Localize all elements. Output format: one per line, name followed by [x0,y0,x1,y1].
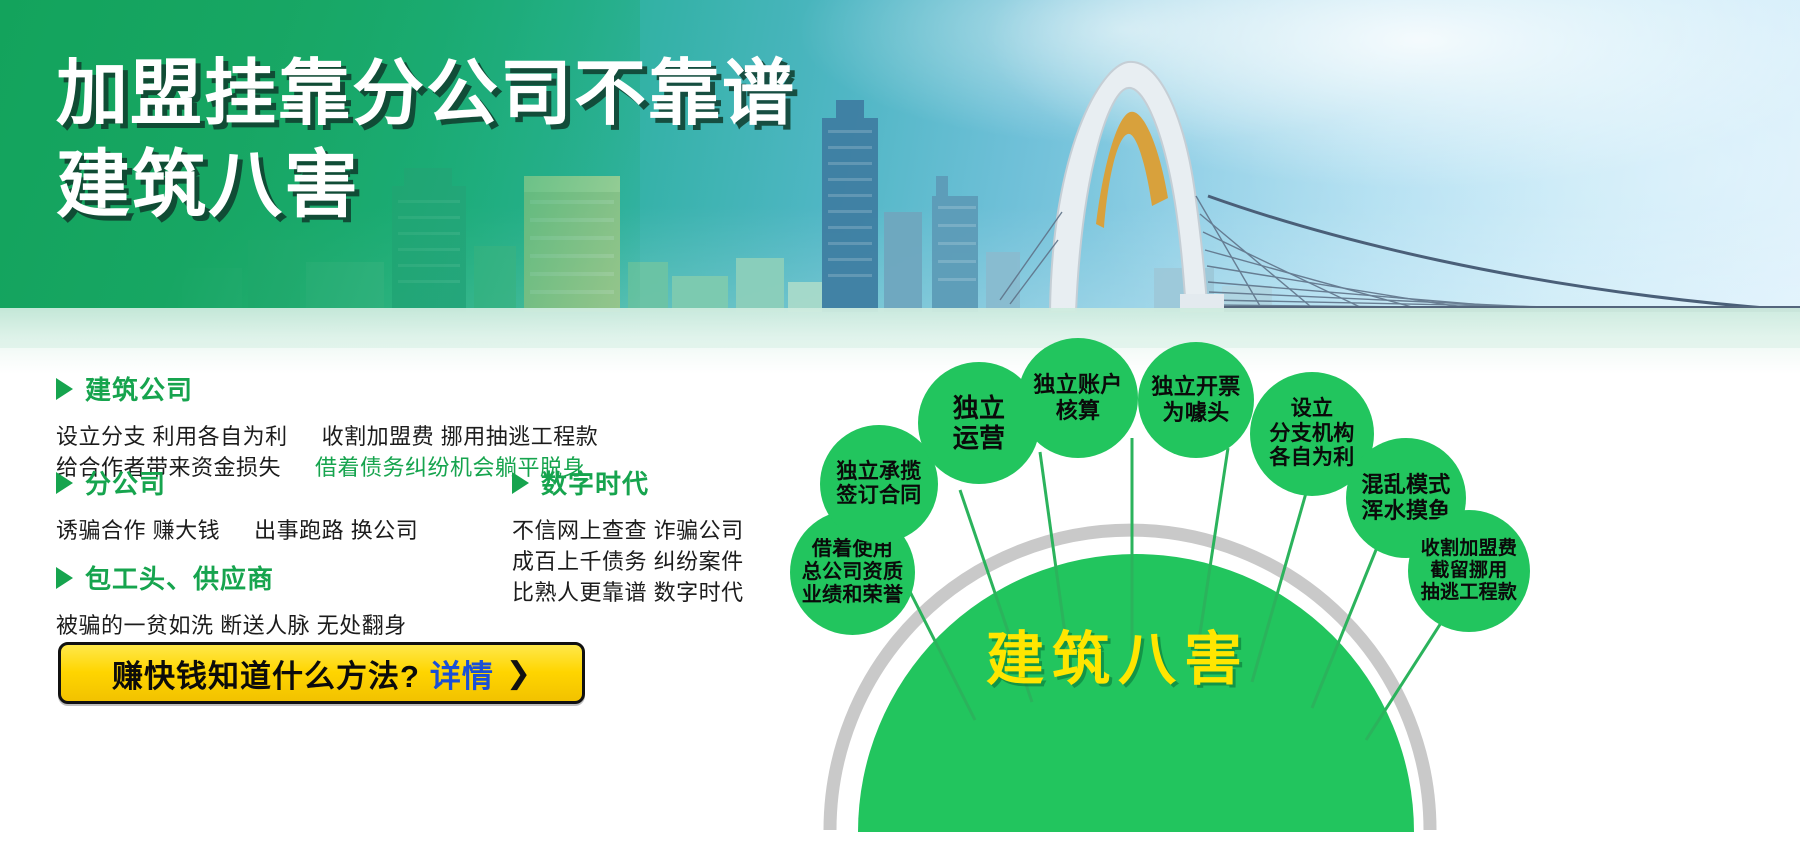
section-title: 分公司 [85,464,166,501]
arch-label: 建筑八害 [986,612,1250,696]
hero-title-block: 加盟挂靠分公司不靠谱 建筑八害 [56,56,796,225]
chevron-right-icon: ❯ [506,656,531,691]
triangle-bullet-icon [56,567,73,589]
hero-title-line1: 加盟挂靠分公司不靠谱 [56,56,796,132]
bubble-line: 运营 [953,423,1006,453]
bubble-line: 签订合同 [836,484,921,508]
section-lines: 被骗的一贫如洗 断送人脉 无处翻身 [56,610,407,641]
bubble-line: 分支机构 [1269,422,1354,446]
section-header: 建筑公司 [56,370,598,407]
bubble-line: 总公司资质 [802,561,904,584]
bubble-line: 收割加盟费 [1421,538,1518,560]
hero-title-line2: 建筑八害 [56,146,796,224]
bubble-line: 核算 [1033,398,1122,424]
bubble-line: 独立开票 [1151,374,1240,400]
text-line: 设立分支 利用各自为利收割加盟费 挪用抽逃工程款 [56,421,598,452]
bubble-line: 独立 [953,393,1006,423]
section-branch-company: 分公司 诱骗合作 赚大钱出事跑路 换公司 [56,464,418,546]
bubble-line: 独立承揽 [836,460,921,484]
line-part: 出事跑路 换公司 [254,518,418,543]
bubble-diagram: 借着使用 总公司资质 业绩和荣誉 独立承揽 签订合同 独立 运营 独立账户 核算 [800,330,1800,844]
bubble-line: 设立 [1269,397,1354,421]
text-line: 不信网上查查 诈骗公司 [512,515,744,546]
page-root: 加盟挂靠分公司不靠谱 建筑八害 建筑公司 设立分支 利用各自为利收割加盟费 挪用… [0,0,1800,844]
bridge-illustration [1000,62,1800,312]
section-header: 数字时代 [512,464,744,501]
section-title: 数字时代 [541,464,649,501]
bubble-line: 独立账户 [1033,372,1122,398]
line-part: 诱骗合作 赚大钱 [56,518,220,543]
bubble-line: 混乱模式 [1361,472,1450,498]
bubble-item[interactable]: 独立账户 核算 [1018,338,1138,458]
section-title: 建筑公司 [85,370,193,407]
left-content: 建筑公司 设立分支 利用各自为利收割加盟费 挪用抽逃工程款 给合作者带来资金损失… [0,374,900,844]
cta-main-text: 赚快钱知道什么方法? [112,651,420,696]
cta-button[interactable]: 赚快钱知道什么方法? 详情 ❯ [58,642,585,704]
cta-detail-link[interactable]: 详情 [430,651,494,696]
hero-banner: 加盟挂靠分公司不靠谱 建筑八害 [0,0,1800,374]
section-header: 包工头、供应商 [56,559,407,596]
bubble-line: 抽逃工程款 [1421,582,1518,604]
bubble-item[interactable]: 独立开票 为噱头 [1138,342,1254,458]
triangle-bullet-icon [56,378,73,400]
text-line: 被骗的一贫如洗 断送人脉 无处翻身 [56,610,407,641]
bubble-line: 业绩和荣誉 [802,584,904,607]
line-part: 设立分支 利用各自为利 [56,424,288,449]
bubble-line: 各自为利 [1269,446,1354,470]
section-lines: 诱骗合作 赚大钱出事跑路 换公司 [56,515,418,546]
section-header: 分公司 [56,464,418,501]
section-contractor-supplier: 包工头、供应商 被骗的一贫如洗 断送人脉 无处翻身 [56,559,407,641]
bubble-line: 为噱头 [1151,400,1240,426]
text-line: 诱骗合作 赚大钱出事跑路 换公司 [56,515,418,546]
text-line: 比熟人更靠谱 数字时代 [512,577,744,608]
bubble-line: 截留挪用 [1421,560,1518,582]
text-line: 成百上千债务 纠纷案件 [512,546,744,577]
triangle-bullet-icon [512,472,529,494]
section-lines: 不信网上查查 诈骗公司 成百上千债务 纠纷案件 比熟人更靠谱 数字时代 [512,515,744,609]
bubble-item[interactable]: 收割加盟费 截留挪用 抽逃工程款 [1408,510,1530,632]
triangle-bullet-icon [56,472,73,494]
section-title: 包工头、供应商 [85,559,274,596]
line-part: 收割加盟费 挪用抽逃工程款 [322,424,599,449]
section-digital-era: 数字时代 不信网上查查 诈骗公司 成百上千债务 纠纷案件 比熟人更靠谱 数字时代 [512,464,744,609]
